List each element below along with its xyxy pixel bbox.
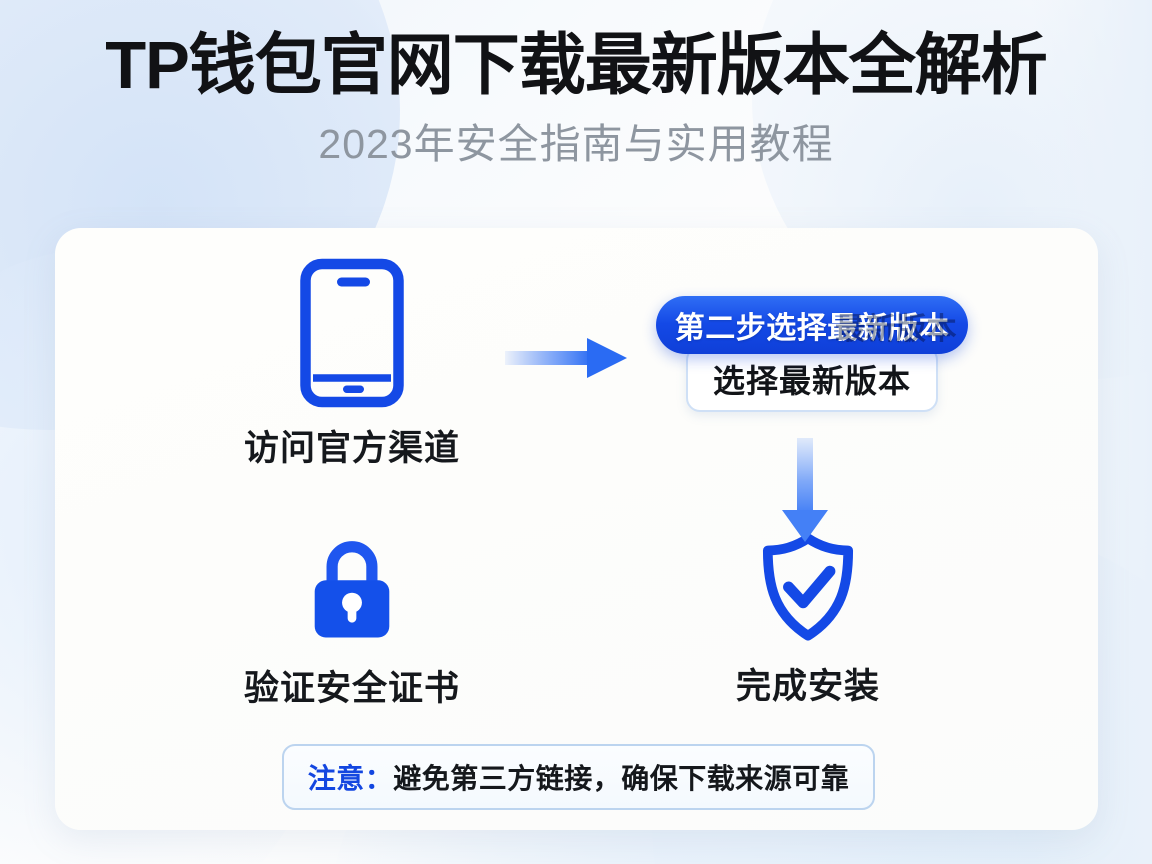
step-two-card[interactable]: 选择最新版本 xyxy=(686,346,938,412)
flow-step-label: 验证安全证书 xyxy=(192,660,512,711)
smartphone-icon xyxy=(298,258,406,408)
arrow-step-two-to-shield xyxy=(770,438,840,546)
arrow-right-icon xyxy=(505,330,630,386)
step-two-pill-ghost-label: 最新版本 xyxy=(835,304,957,348)
flow-step-finish-installation[interactable]: 完成安装 xyxy=(648,528,968,709)
page-title: TP钱包官网下载最新版本全解析 xyxy=(0,0,1152,102)
lock-icon-wrap xyxy=(192,530,512,648)
shield-check-icon xyxy=(756,531,860,643)
lock-icon xyxy=(306,535,398,643)
infographic-canvas: TP钱包官网下载最新版本全解析 2023年安全指南与实用教程 访问官方渠道 xyxy=(0,0,1152,864)
warning-note-prefix: 注意： xyxy=(308,763,394,794)
flow-step-verify-security-certificate[interactable]: 验证安全证书 xyxy=(192,530,512,711)
flow-step-label: 访问官方渠道 xyxy=(192,420,512,471)
warning-note-body: 避免第三方链接，确保下载来源可靠 xyxy=(393,763,849,794)
arrow-phone-to-step-two xyxy=(505,330,630,386)
step-two-card-label: 选择最新版本 xyxy=(713,356,911,402)
arrow-down-icon xyxy=(770,438,840,546)
flow-step-label: 完成安装 xyxy=(648,658,968,709)
smartphone-icon-wrap xyxy=(192,258,512,408)
warning-note-text: 注意：避免第三方链接，确保下载来源可靠 xyxy=(308,757,850,797)
step-two-pill[interactable]: 第二步选择最新版本 最新版本 xyxy=(656,296,968,354)
flow-step-select-latest-version[interactable]: 第二步选择最新版本 最新版本 选择最新版本 xyxy=(656,296,968,412)
flow-step-visit-official-channel[interactable]: 访问官方渠道 xyxy=(192,258,512,471)
warning-note: 注意：避免第三方链接，确保下载来源可靠 xyxy=(282,744,875,810)
header: TP钱包官网下载最新版本全解析 2023年安全指南与实用教程 xyxy=(0,0,1152,167)
page-subtitle: 2023年安全指南与实用教程 xyxy=(0,102,1152,167)
